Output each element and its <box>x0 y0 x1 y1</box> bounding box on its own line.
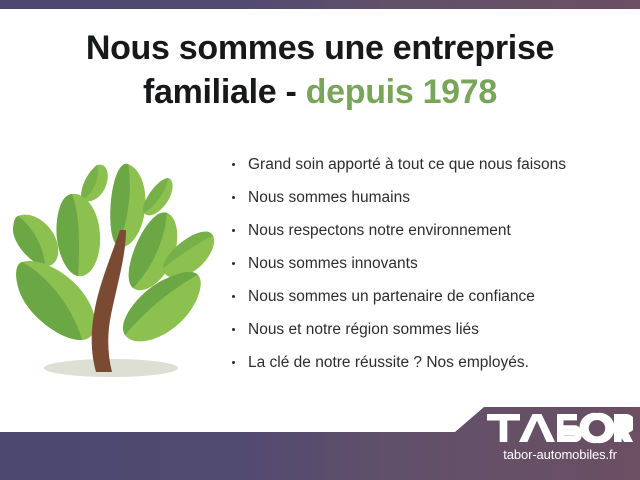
list-item-label: Nous sommes innovants <box>248 255 418 272</box>
bullet-dot-icon <box>232 163 235 166</box>
title-line-1: Nous sommes une entreprise <box>0 26 640 70</box>
bullet-dot-icon <box>232 196 235 199</box>
list-item-label: Nous sommes humains <box>248 189 410 206</box>
value-bullet-list: Grand soin apporté à tout ce que nous fa… <box>231 148 631 379</box>
leaf-far-left <box>13 215 58 266</box>
list-item-label: Grand soin apporté à tout ce que nous fa… <box>248 156 566 173</box>
list-item: La clé de notre réussite ? Nos employés. <box>231 346 631 379</box>
list-item: Nous et notre région sommes liés <box>231 313 631 346</box>
leaf-top-right-small <box>143 178 173 215</box>
leaf-top-center <box>110 164 145 247</box>
page-title: Nous sommes une entreprise familiale - d… <box>0 26 640 114</box>
list-item-label: Nous respectons notre environnement <box>248 222 511 239</box>
logo-tagline: tabor-automobiles.fr <box>487 447 633 462</box>
list-item-label: Nous sommes un partenaire de confiance <box>248 288 535 305</box>
leaf-upper-left <box>56 194 100 276</box>
leaf-top-left-small <box>81 165 108 202</box>
list-item: Nous sommes innovants <box>231 247 631 280</box>
tabor-logo-mark <box>487 412 633 444</box>
list-item-label: La clé de notre réussite ? Nos employés. <box>248 354 529 371</box>
list-item: Nous sommes humains <box>231 181 631 214</box>
bullet-dot-icon <box>232 328 235 331</box>
title-line-2-main: familiale - <box>143 73 306 111</box>
title-accent-year: depuis 1978 <box>306 73 497 111</box>
brand-logo[interactable]: tabor-automobiles.fr <box>487 412 635 474</box>
bullet-dot-icon <box>232 295 235 298</box>
list-item-label: Nous et notre région sommes liés <box>248 321 479 338</box>
tree-illustration <box>8 142 220 388</box>
bullet-dot-icon <box>232 229 235 232</box>
list-item: Nous respectons notre environnement <box>231 214 631 247</box>
bullet-dot-icon <box>232 262 235 265</box>
slide-canvas: Nous sommes une entreprise familiale - d… <box>0 0 640 480</box>
list-item: Grand soin apporté à tout ce que nous fa… <box>231 148 631 181</box>
bullet-dot-icon <box>232 361 235 364</box>
list-item: Nous sommes un partenaire de confiance <box>231 280 631 313</box>
top-accent-strip <box>0 0 640 9</box>
title-line-2: familiale - depuis 1978 <box>0 70 640 114</box>
